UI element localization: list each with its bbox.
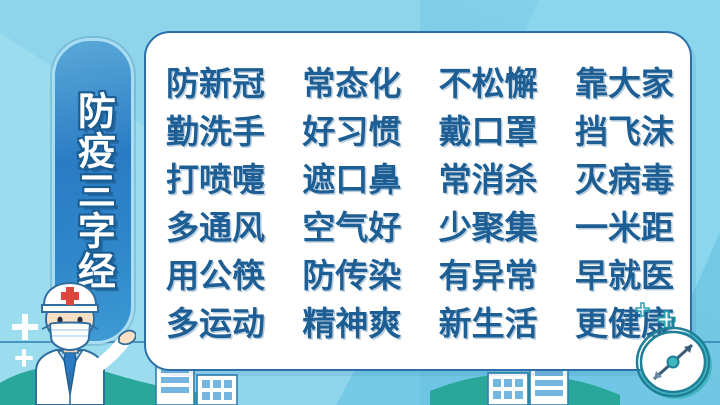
slogan-cell: 常态化	[302, 57, 401, 105]
slogan-cell: 不松懈	[439, 57, 538, 105]
banner-title-text: 防疫三字经	[74, 91, 113, 291]
slogan-cell: 好习惯	[302, 105, 401, 153]
slogan-cell: 灭病毒	[575, 153, 674, 201]
poster-canvas: 防疫三字经 防新冠 常态化 不松懈 靠大家 勤洗手 好习惯 戴口罩 挡飞沫 打喷…	[0, 0, 720, 405]
slogan-cell: 新生活	[439, 297, 538, 345]
slogan-cell: 遮口鼻	[302, 153, 401, 201]
slogan-cell: 空气好	[302, 201, 401, 249]
slogan-cell: 少聚集	[439, 201, 538, 249]
slogan-cell: 戴口罩	[439, 105, 538, 153]
slogan-cell: 用公筷	[166, 249, 265, 297]
doctor-character	[6, 275, 136, 405]
slogan-cell: 勤洗手	[166, 105, 265, 153]
slogan-row: 多运动 精神爽 新生活 更健康	[166, 297, 674, 345]
slogan-card: 防新冠 常态化 不松懈 靠大家 勤洗手 好习惯 戴口罩 挡飞沫 打喷嚏 遮口鼻 …	[144, 31, 692, 371]
slogan-cell: 精神爽	[302, 297, 401, 345]
slogan-cell: 常消杀	[439, 153, 538, 201]
slogan-cell: 多运动	[166, 297, 265, 345]
slogan-row: 防新冠 常态化 不松懈 靠大家	[166, 57, 674, 105]
slogan-cell: 一米距	[575, 201, 674, 249]
slogan-cell: 防传染	[302, 249, 401, 297]
slogan-row: 多通风 空气好 少聚集 一米距	[166, 201, 674, 249]
slogan-cell: 靠大家	[575, 57, 674, 105]
compass-icon	[632, 315, 716, 403]
slogan-row: 用公筷 防传染 有异常 早就医	[166, 249, 674, 297]
slogan-cell: 早就医	[575, 249, 674, 297]
slogan-cell: 多通风	[166, 201, 265, 249]
slogan-row: 打喷嚏 遮口鼻 常消杀 灭病毒	[166, 153, 674, 201]
slogan-row: 勤洗手 好习惯 戴口罩 挡飞沫	[166, 105, 674, 153]
slogan-cell: 有异常	[439, 249, 538, 297]
doctor-pointing-hand	[119, 331, 136, 345]
slogan-card-inner: 防新冠 常态化 不松懈 靠大家 勤洗手 好习惯 戴口罩 挡飞沫 打喷嚏 遮口鼻 …	[146, 33, 690, 369]
slogan-cell: 防新冠	[166, 57, 265, 105]
slogan-cell: 挡飞沫	[575, 105, 674, 153]
slogan-cell: 打喷嚏	[166, 153, 265, 201]
